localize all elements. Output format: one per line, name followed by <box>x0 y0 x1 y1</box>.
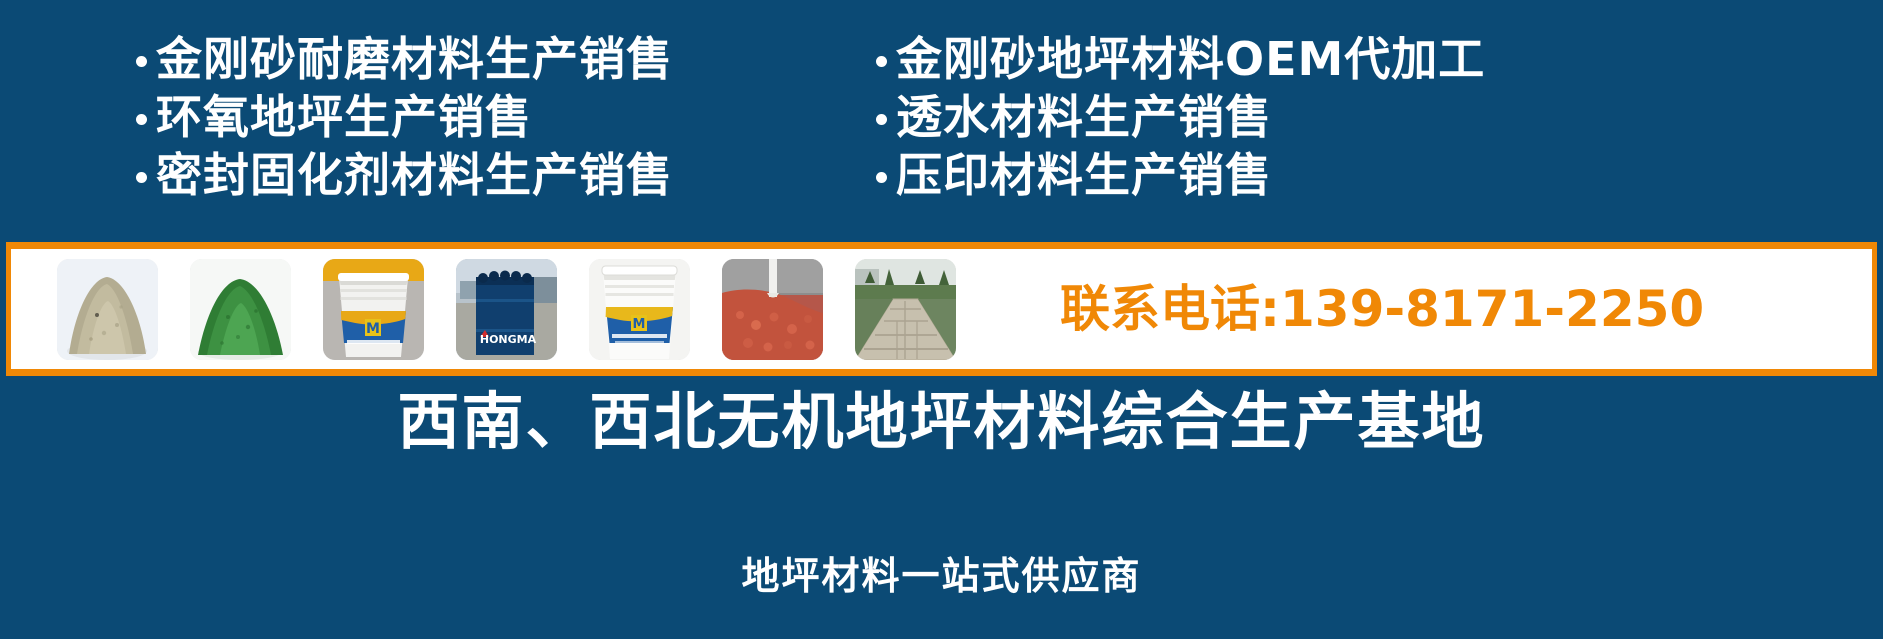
feature-label: 环氧地坪生产销售 <box>156 94 532 140</box>
bullet-dot-icon <box>876 172 887 183</box>
bullet-dot-icon <box>136 114 147 125</box>
bullet-dot-icon <box>876 56 887 67</box>
feature-label: 金刚砂耐磨材料生产销售 <box>156 36 673 82</box>
feature-column-left: 金刚砂耐磨材料生产销售 环氧地坪生产销售 密封固化剂材料生产销售 <box>136 30 876 204</box>
page-subtitle: 地坪材料一站式供应商 <box>0 556 1883 598</box>
product-thumb-stamped-concrete-path <box>855 259 956 360</box>
feature-label: 透水材料生产销售 <box>896 94 1272 140</box>
product-strip: M <box>6 242 1877 376</box>
contact-phone[interactable]: 联系电话:139-8171-2250 <box>1060 284 1704 334</box>
feature-item-right-2: 透水材料生产销售 <box>876 88 1776 146</box>
feature-label: 金刚砂地坪材料OEM代加工 <box>896 36 1485 82</box>
feature-list: 金刚砂耐磨材料生产销售 环氧地坪生产销售 密封固化剂材料生产销售 金刚砂地坪材料… <box>0 30 1883 225</box>
feature-item-left-3: 密封固化剂材料生产销售 <box>136 146 876 204</box>
product-thumb-white-yellow-pail-sealer: M <box>323 259 424 360</box>
svg-text:HONGMA: HONGMA <box>480 333 537 346</box>
feature-item-left-1: 金刚砂耐磨材料生产销售 <box>136 30 876 88</box>
product-thumb-grey-wear-resistant-powder <box>57 259 158 360</box>
product-thumbnail-row: M <box>57 259 956 360</box>
feature-column-right: 金刚砂地坪材料OEM代加工 透水材料生产销售 压印材料生产销售 <box>876 30 1776 204</box>
svg-text:M: M <box>366 321 380 337</box>
product-thumb-green-wear-resistant-powder <box>190 259 291 360</box>
bullet-dot-icon <box>136 56 147 67</box>
product-thumb-red-permeable-paving <box>722 259 823 360</box>
feature-item-right-1: 金刚砂地坪材料OEM代加工 <box>876 30 1776 88</box>
feature-item-right-3: 压印材料生产销售 <box>876 146 1776 204</box>
feature-label: 密封固化剂材料生产销售 <box>156 152 673 198</box>
page-title: 西南、西北无机地坪材料综合生产基地 <box>0 386 1883 457</box>
bullet-dot-icon <box>136 172 147 183</box>
feature-item-left-2: 环氧地坪生产销售 <box>136 88 876 146</box>
product-thumb-blue-drum-hongma: HONGMA <box>456 259 557 360</box>
svg-text:M: M <box>633 317 646 332</box>
feature-label: 压印材料生产销售 <box>896 152 1272 198</box>
advertisement-banner: 金刚砂耐磨材料生产销售 环氧地坪生产销售 密封固化剂材料生产销售 金刚砂地坪材料… <box>0 0 1883 639</box>
product-thumb-white-blue-pail-epoxy: M <box>589 259 690 360</box>
bullet-dot-icon <box>876 114 887 125</box>
